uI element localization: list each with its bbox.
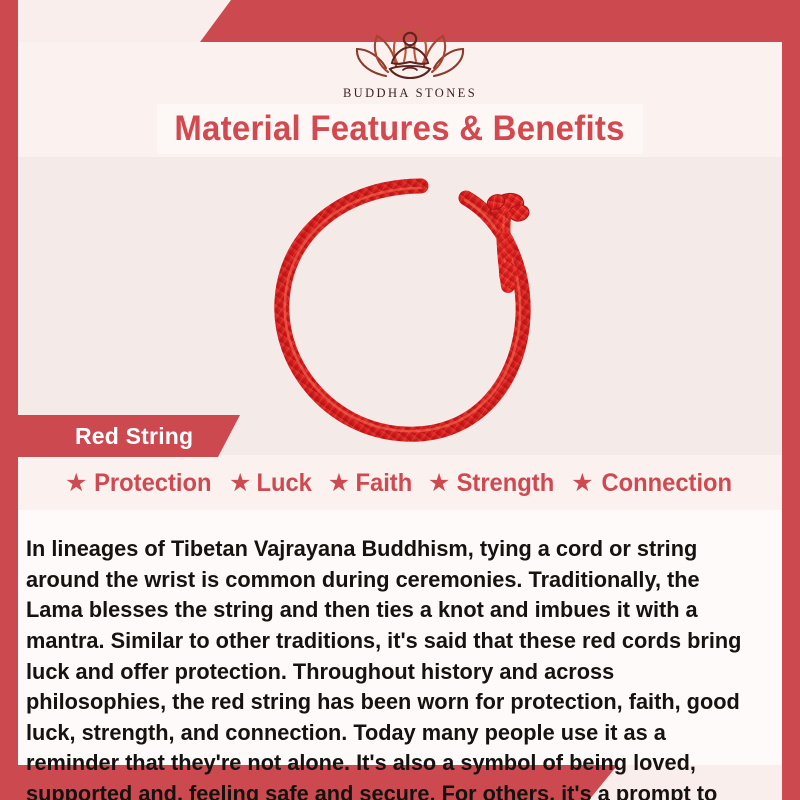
description-text: In lineages of Tibetan Vajrayana Buddhis… [26, 534, 755, 800]
accent-bar-top [200, 0, 800, 42]
feature-label: Luck [257, 469, 312, 498]
page-title: Material Features & Benefits [175, 109, 625, 149]
feature-label: Protection [94, 469, 211, 498]
brand-name: BUDDHA STONES [330, 86, 490, 101]
infographic-page: BUDDHA STONES Material Features & Benefi… [0, 0, 800, 800]
title-plate: Material Features & Benefits [157, 104, 643, 154]
feature-label: Faith [356, 469, 413, 498]
product-image-red-string-bracelet [252, 168, 572, 450]
feature-item-connection: ★ Connection [571, 469, 735, 498]
star-icon: ★ [571, 471, 593, 496]
feature-item-faith: ★ Faith [328, 469, 414, 498]
star-icon: ★ [428, 471, 450, 496]
star-icon: ★ [229, 471, 251, 496]
star-icon: ★ [328, 471, 350, 496]
feature-item-protection: ★ Protection [65, 469, 215, 498]
lotus-meditation-icon [346, 18, 474, 84]
accent-bar-right [782, 0, 800, 800]
feature-item-strength: ★ Strength [428, 469, 557, 498]
accent-bar-left [0, 0, 18, 800]
feature-list: ★ Protection ★ Luck ★ Faith ★ Strength ★… [18, 462, 782, 504]
feature-label: Connection [601, 469, 732, 498]
star-icon: ★ [65, 471, 87, 496]
red-string-banner: Red String [18, 415, 240, 457]
red-string-label: Red String [75, 423, 193, 450]
feature-item-luck: ★ Luck [229, 469, 314, 498]
brand-logo: BUDDHA STONES [330, 18, 490, 106]
feature-label: Strength [457, 469, 555, 498]
